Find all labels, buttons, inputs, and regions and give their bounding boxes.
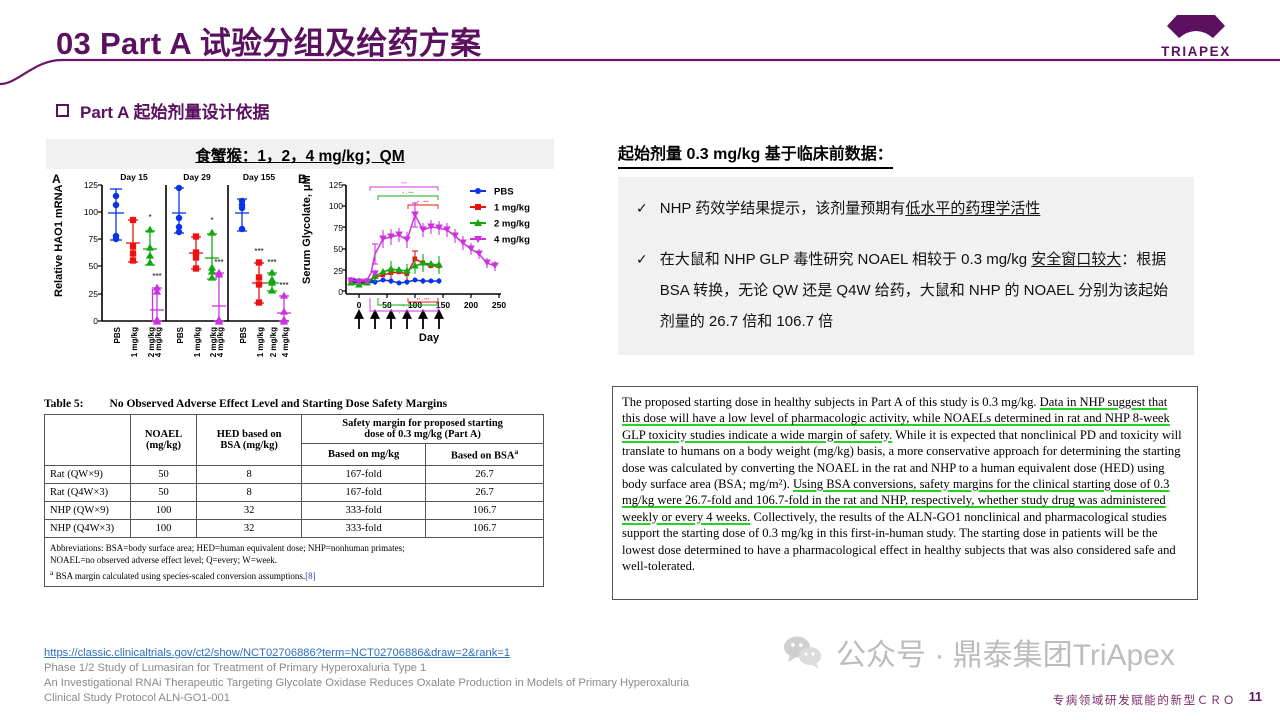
svg-text:1 mg/kg: 1 mg/kg (130, 327, 139, 357)
wechat-watermark: 公众号 · 鼎泰集团TriApex (782, 630, 1175, 674)
table-label: Table 5: (44, 398, 84, 410)
svg-text:* - ***: * - *** (398, 311, 409, 316)
bullet-text: NHP 药效学结果提示，该剂量预期有低水平的药理学活性 (660, 193, 1176, 224)
check-icon: ✓ (636, 244, 648, 337)
chart-legend: PBS 1 mg/kg 2 mg/kg (470, 187, 530, 246)
header-based-on-mgkg: Based on mg/kg (302, 444, 426, 466)
triapex-logo: TRIAPEX (1140, 12, 1252, 66)
page-number: 11 (1249, 690, 1262, 704)
table-header-row-1: NOAEL (mg/kg) HED based on BSA (mg/kg) S… (45, 415, 544, 444)
svg-text:75: 75 (334, 223, 344, 233)
header-based-on-bsa: Based on BSAa (426, 444, 544, 466)
panel-a: A 125100 7550 250 Relative HAO1 mRNA (52, 169, 291, 357)
svg-text:Day 155: Day 155 (243, 172, 275, 182)
svg-text:***: *** (279, 281, 288, 290)
cell-margin-mgkg: 333-fold (302, 501, 426, 519)
svg-text:50: 50 (89, 261, 99, 271)
panel-b-xlabel: Day (419, 332, 440, 344)
svg-text:***: *** (214, 258, 223, 267)
svg-text:0: 0 (338, 287, 343, 297)
svg-text:100: 100 (84, 207, 98, 217)
list-item: ✓ NHP 药效学结果提示，该剂量预期有低水平的药理学活性 (636, 193, 1176, 224)
watermark-text: 公众号 · 鼎泰集团TriApex (836, 630, 1175, 674)
cell-margin-bsa: 106.7 (426, 519, 544, 537)
svg-text:25: 25 (89, 289, 99, 299)
svg-text:4 mg/kg: 4 mg/kg (216, 327, 225, 357)
figure-card: 食蟹猴：1，2，4 mg/kg；QM A 125100 7550 250 (46, 139, 554, 385)
reference-line-1: Phase 1/2 Study of Lumasiran for Treatme… (44, 661, 689, 676)
svg-text:200: 200 (464, 300, 478, 310)
series-1mgkg (349, 251, 441, 283)
panel-b-ylabel: Serum Glycolate, μM (301, 175, 313, 284)
safety-margin-table: NOAEL (mg/kg) HED based on BSA (mg/kg) S… (44, 414, 544, 587)
rationale-bullets-card: ✓ NHP 药效学结果提示，该剂量预期有低水平的药理学活性 ✓ 在大鼠和 NHP… (618, 177, 1194, 355)
para-seg: The proposed starting dose in healthy su… (622, 395, 1040, 409)
svg-text:***: *** (401, 181, 407, 186)
cell-noael: 50 (131, 483, 197, 501)
bullet-text: 在大鼠和 NHP GLP 毒性研究 NOAEL 相较于 0.3 mg/kg 安全… (660, 244, 1176, 337)
section-heading: Part A 起始剂量设计依据 (56, 98, 270, 123)
wechat-icon (782, 635, 824, 669)
legend-item-4mgkg: 4 mg/kg (470, 235, 530, 246)
svg-text:4 mg/kg: 4 mg/kg (281, 327, 290, 357)
panel-a-ylabel: Relative HAO1 mRNA (53, 184, 65, 297)
table-row: NHP (QW×9) 100 32 333-fold 106.7 (45, 501, 544, 519)
svg-text:0: 0 (357, 300, 362, 310)
svg-text:* - ***: * - *** (402, 304, 413, 309)
row-label: Rat (Q4W×3) (45, 483, 131, 501)
figure-svg: A 125100 7550 250 Relative HAO1 mRNA (46, 169, 554, 387)
table-row: Rat (QW×9) 50 8 167-fold 26.7 (45, 465, 544, 483)
cell-hed: 8 (197, 483, 302, 501)
row-label: NHP (QW×9) (45, 501, 131, 519)
starting-dose-heading: 起始剂量 0.3 mg/kg 基于临床前数据： (618, 140, 893, 169)
figure-caption: 食蟹猴：1，2，4 mg/kg；QM (46, 144, 554, 169)
svg-text:75: 75 (89, 234, 99, 244)
table-footnotes: Abbreviations: BSA=body surface area; HE… (45, 537, 544, 586)
svg-text:25: 25 (334, 266, 344, 276)
svg-text:100: 100 (329, 201, 343, 211)
section-heading-label: Part A 起始剂量设计依据 (80, 98, 270, 123)
cell-noael: 100 (131, 501, 197, 519)
svg-text:PBS: PBS (176, 326, 185, 343)
table-5-block: Table 5: No Observed Adverse Effect Leve… (44, 398, 554, 587)
reference-line-2: An Investigational RNAi Therapeutic Targ… (44, 676, 689, 691)
cell-margin-mgkg: 167-fold (302, 483, 426, 501)
cell-hed: 8 (197, 465, 302, 483)
svg-text:1 mg/kg: 1 mg/kg (256, 327, 265, 357)
cell-margin-bsa: 26.7 (426, 465, 544, 483)
svg-text:PBS: PBS (113, 326, 122, 343)
triapex-wordmark: TRIAPEX (1161, 44, 1231, 59)
svg-text:250: 250 (492, 300, 506, 310)
cell-hed: 32 (197, 519, 302, 537)
page-title: 03 Part A 试验分组及给药方案 (56, 18, 481, 63)
svg-text:2 mg/kg: 2 mg/kg (494, 219, 530, 230)
cell-margin-bsa: 106.7 (426, 501, 544, 519)
svg-text:* - ***: * - *** (417, 200, 428, 205)
svg-text:125: 125 (84, 180, 98, 190)
clinicaltrials-link[interactable]: https://classic.clinicaltrials.gov/ct2/s… (44, 646, 689, 661)
header-blank (45, 415, 131, 466)
figure-plot: A 125100 7550 250 Relative HAO1 mRNA (46, 169, 554, 387)
table-row: NHP (Q4W×3) 100 32 333-fold 106.7 (45, 519, 544, 537)
triapex-logo-mark (1165, 12, 1227, 43)
footer-references: https://classic.clinicaltrials.gov/ct2/s… (44, 646, 689, 706)
svg-text:*: * (210, 216, 213, 225)
header-safety-margin: Safety margin for proposed starting dose… (302, 415, 544, 444)
svg-text:PBS: PBS (494, 187, 514, 198)
legend-item-pbs: PBS (470, 187, 514, 198)
list-item: ✓ 在大鼠和 NHP GLP 毒性研究 NOAEL 相较于 0.3 mg/kg … (636, 244, 1176, 337)
reference-marker[interactable]: [8] (305, 571, 316, 581)
svg-text:4 mg/kg: 4 mg/kg (494, 235, 530, 246)
table-title: Table 5: No Observed Adverse Effect Leve… (44, 398, 554, 410)
check-icon: ✓ (636, 193, 648, 224)
table-row: Rat (Q4W×3) 50 8 167-fold 26.7 (45, 483, 544, 501)
svg-text:1 mg/kg: 1 mg/kg (193, 327, 202, 357)
legend-item-1mgkg: 1 mg/kg (470, 203, 530, 214)
table-title-text: No Observed Adverse Effect Level and Sta… (110, 398, 448, 410)
bullet-square-icon (56, 104, 69, 117)
panel-b: B 125100 7550 250 Serum Glycolate, μM (298, 172, 530, 344)
svg-text:4 mg/kg: 4 mg/kg (154, 327, 163, 357)
cell-margin-mgkg: 167-fold (302, 465, 426, 483)
svg-text:50: 50 (334, 244, 344, 254)
svg-text:0: 0 (93, 316, 98, 326)
reference-line-3: Clinical Study Protocol ALN-GO1-001 (44, 691, 689, 706)
cell-margin-mgkg: 333-fold (302, 519, 426, 537)
header-noael: NOAEL (mg/kg) (131, 415, 197, 466)
table-footnote-row: Abbreviations: BSA=body surface area; HE… (45, 537, 544, 586)
protocol-excerpt-box: The proposed starting dose in healthy su… (612, 386, 1198, 600)
svg-text:***: *** (267, 258, 276, 267)
svg-text:** - ***: ** - *** (417, 297, 430, 302)
cell-hed: 32 (197, 501, 302, 519)
cell-noael: 100 (131, 519, 197, 537)
svg-text:***: *** (254, 247, 263, 256)
company-tagline: 专病领域研发赋能的新型ＣＲＯ (1053, 692, 1236, 708)
header-hed: HED based on BSA (mg/kg) (197, 415, 302, 466)
svg-text:*: * (148, 213, 151, 222)
svg-text:1 mg/kg: 1 mg/kg (494, 203, 530, 214)
svg-text:* - ***: * - *** (402, 191, 413, 196)
svg-text:2 mg/kg: 2 mg/kg (269, 327, 278, 357)
row-label: Rat (QW×9) (45, 465, 131, 483)
svg-text:Day 15: Day 15 (120, 172, 148, 182)
svg-text:125: 125 (329, 180, 343, 190)
cell-margin-bsa: 26.7 (426, 483, 544, 501)
row-label: NHP (Q4W×3) (45, 519, 131, 537)
legend-item-2mgkg: 2 mg/kg (470, 219, 530, 230)
svg-text:PBS: PBS (239, 326, 248, 343)
cell-noael: 50 (131, 465, 197, 483)
panel-a-label: A (52, 172, 61, 186)
svg-text:***: *** (152, 272, 161, 281)
svg-text:Day 29: Day 29 (183, 172, 211, 182)
